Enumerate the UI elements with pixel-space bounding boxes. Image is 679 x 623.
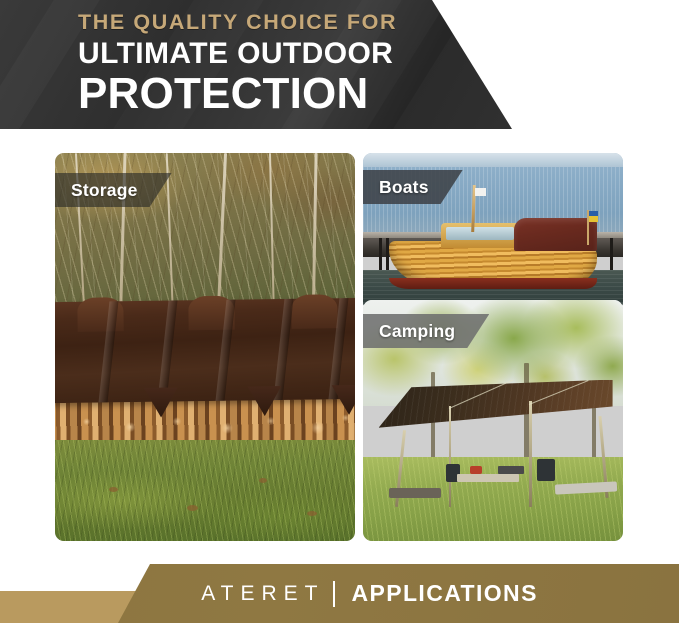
boat-flag [589,211,598,222]
fallen-leaf [187,505,198,511]
camp-grill [498,466,524,474]
warehouse-roof-edge [363,153,623,167]
grass-texture [55,440,355,541]
brand-name: ATERET [201,583,324,604]
camp-chair [537,459,555,481]
card-boats[interactable]: Boats [363,153,623,311]
tarp-support-pole [449,406,452,507]
boat-windscreen [446,227,514,240]
fallen-leaf [307,511,317,516]
boat-pennant [475,188,486,196]
badge-camping: Camping [363,314,489,348]
card-camping[interactable]: Camping [363,300,623,541]
header-headline-line1: ULTIMATE OUTDOOR [78,39,478,69]
brown-tarp-cover [55,298,355,403]
tarp-support-pole [529,401,532,507]
footer-text-block: ATERET APPLICATIONS [0,564,679,623]
footer-divider [333,581,335,607]
boat-tarp-cover [514,218,597,251]
camp-pot [470,466,482,474]
tarp-peak [291,295,337,330]
storage-photo [55,153,355,541]
tarp-fold [157,301,177,402]
camp-table [457,474,519,482]
header-kicker: THE QUALITY CHOICE FOR [78,12,478,34]
card-storage[interactable]: Storage [55,153,355,541]
grass-lawn [363,457,623,541]
header-banner: THE QUALITY CHOICE FOR ULTIMATE OUTDOOR … [0,0,679,129]
grass-foreground [55,440,355,541]
header-headline-line2: PROTECTION [78,71,478,116]
header-text-block: THE QUALITY CHOICE FOR ULTIMATE OUTDOOR … [78,12,478,116]
footer-section-label: APPLICATIONS [351,582,537,605]
footer-banner: ATERET APPLICATIONS [0,550,679,623]
application-cards: Storage Boats [0,129,679,539]
camp-cot [389,488,441,498]
fallen-leaf [109,487,118,492]
tarp-fold [274,299,294,400]
boat-waterline-stripe [389,278,597,289]
